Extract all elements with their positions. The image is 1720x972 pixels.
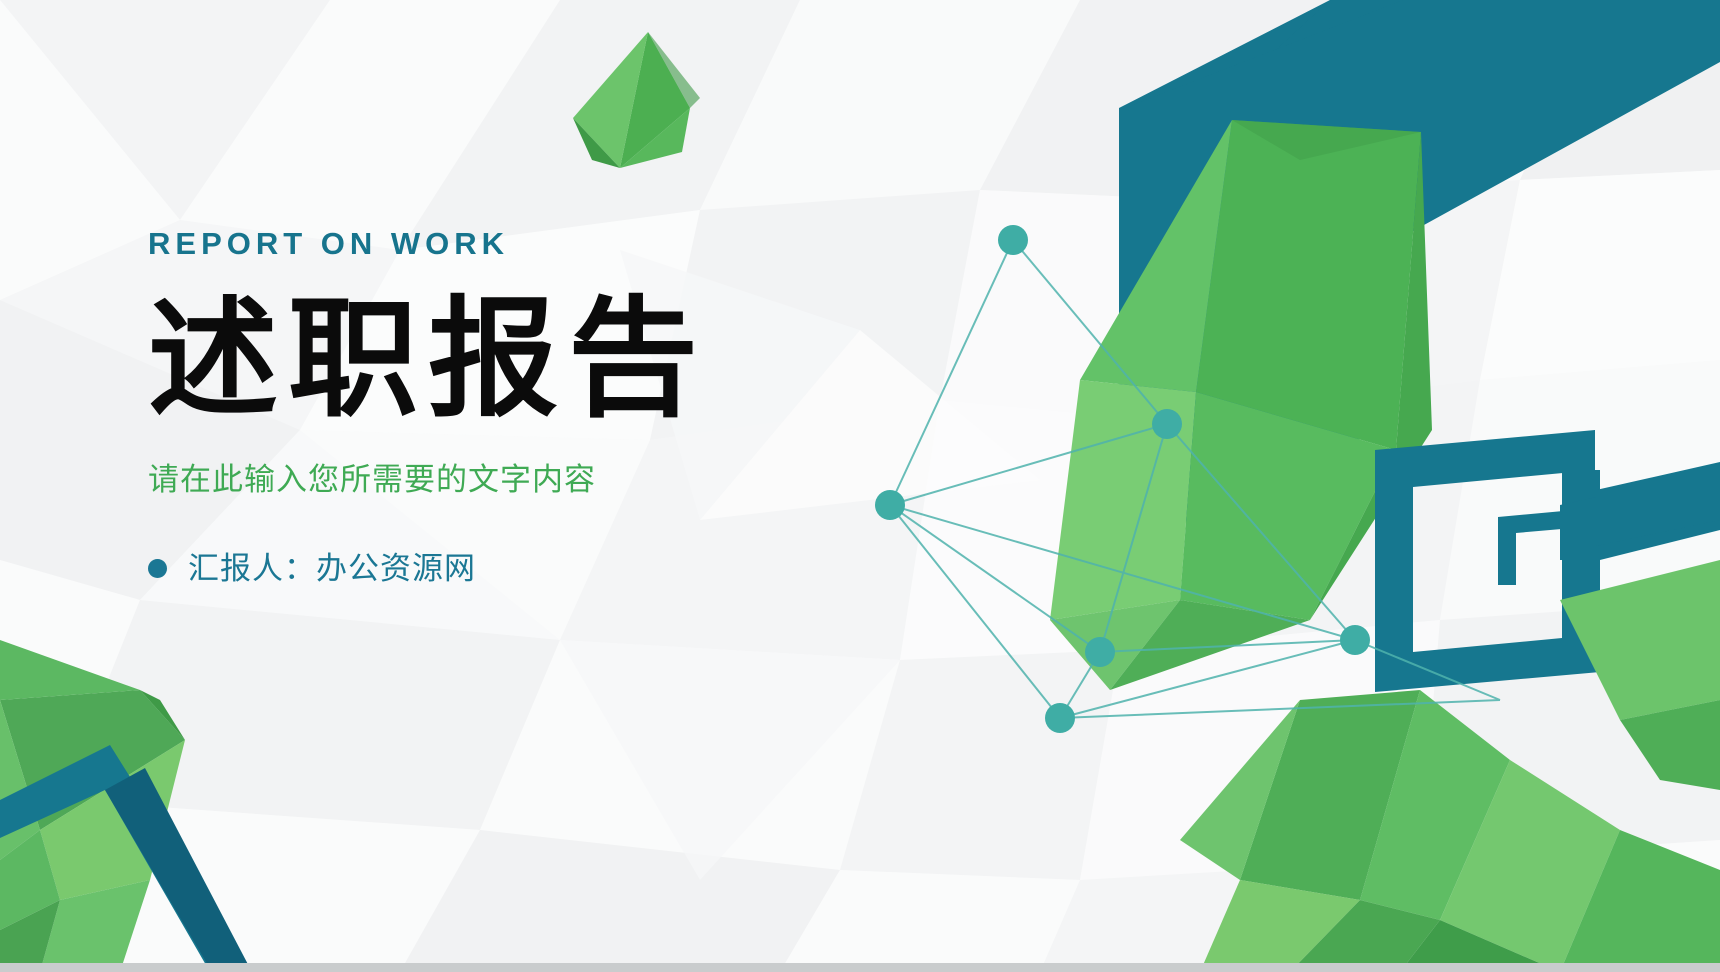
footer-bar [0,963,1720,972]
eyebrow-heading: REPORT ON WORK [148,228,908,259]
green-tetra-top [573,32,700,168]
teal-frame-right [1375,430,1600,692]
green-crystal-right [1050,120,1432,690]
node-mid [1085,637,1115,667]
subtitle-text: 请在此输入您所需要的文字内容 [148,464,908,495]
node-far-right [1340,625,1370,655]
bullet-dot-icon [148,559,167,578]
page-title: 述职报告 [148,293,908,426]
presentation-slide: REPORT ON WORK 述职报告 请在此输入您所需要的文字内容 汇报人：办… [0,0,1720,972]
title-text-block: REPORT ON WORK 述职报告 请在此输入您所需要的文字内容 汇报人：办… [148,228,908,584]
presenter-row: 汇报人：办公资源网 [148,553,908,584]
node-top [998,225,1028,255]
green-crystal-far-right [1560,560,1720,790]
node-right [1152,409,1182,439]
presenter-label: 汇报人：办公资源网 [188,553,476,584]
node-bottom [1045,703,1075,733]
